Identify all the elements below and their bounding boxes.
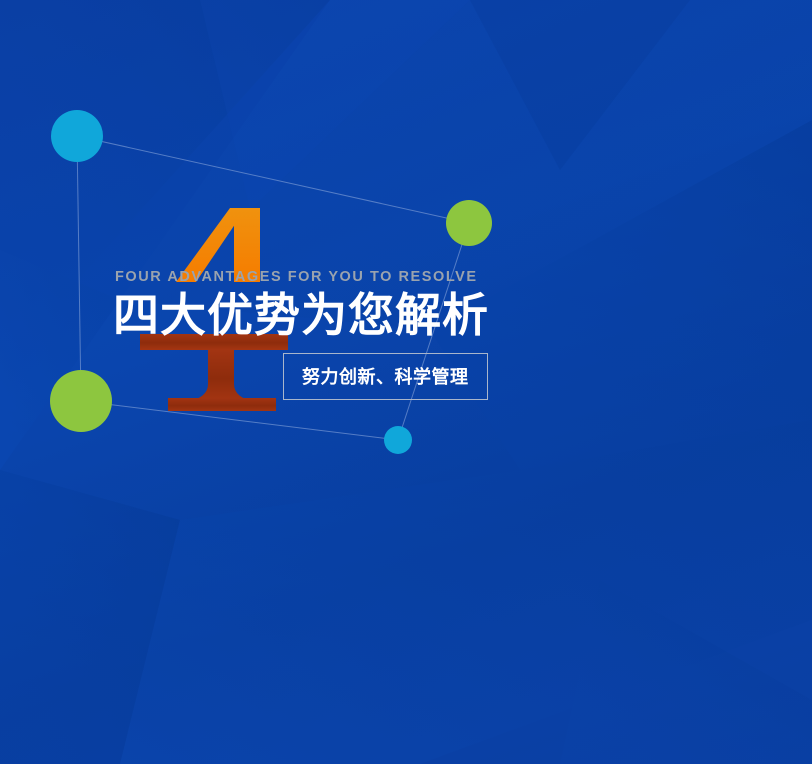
tagline-badge: 努力创新、科学管理 — [283, 353, 488, 400]
node-cyan-top-left — [51, 110, 103, 162]
banner-image: FOUR ADVANTAGES FOR YOU TO RESOLVE 四大优势为… — [0, 0, 812, 764]
node-green-bottom-left — [50, 370, 112, 432]
page-title: 四大优势为您解析 — [113, 291, 753, 339]
node-green-right — [446, 200, 492, 246]
link-cyan-top-to-green-bottom — [77, 136, 81, 401]
eyebrow-text: FOUR ADVANTAGES FOR YOU TO RESOLVE — [115, 270, 753, 285]
tagline-row: 努力创新、科学管理 — [283, 353, 753, 400]
headline-block: FOUR ADVANTAGES FOR YOU TO RESOLVE 四大优势为… — [113, 270, 753, 400]
node-cyan-bottom — [384, 426, 412, 454]
